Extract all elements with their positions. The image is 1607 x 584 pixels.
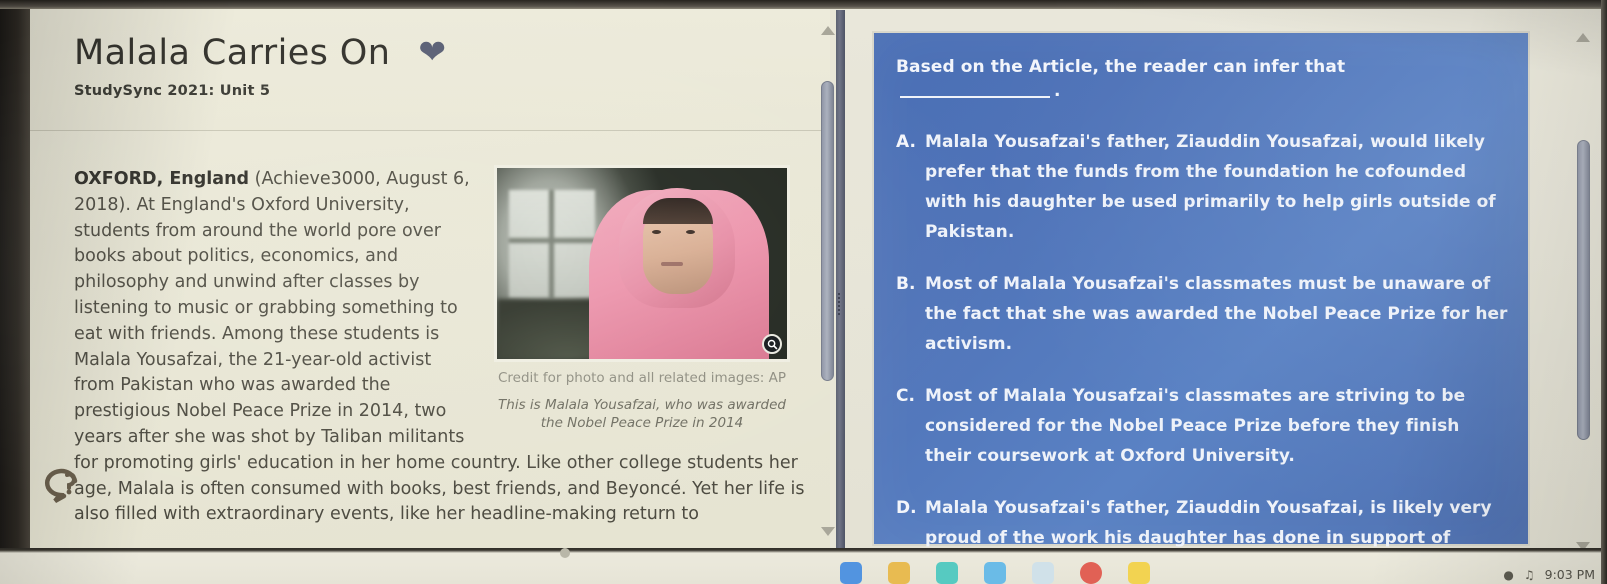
photo-subject-eye-right xyxy=(686,230,695,234)
choice-letter-c: C. xyxy=(896,381,916,411)
taskbar-app-red-icon[interactable] xyxy=(1080,562,1102,584)
photo-subject-mouth xyxy=(661,262,683,266)
question-scroll-thumb[interactable] xyxy=(1577,140,1590,440)
monitor-bezel-left xyxy=(0,0,30,548)
taskbar-status-dot-icon xyxy=(560,548,570,558)
taskbar-browser-icon[interactable] xyxy=(840,562,862,584)
answer-choice-b[interactable]: B. Most of Malala Yousafzai's classmates… xyxy=(896,269,1508,359)
choice-letter-b: B. xyxy=(896,269,916,299)
choice-text-c: Most of Malala Yousafzai's classmates ar… xyxy=(925,381,1508,471)
taskbar-app-teal-icon[interactable] xyxy=(936,562,958,584)
answer-choice-a[interactable]: A. Malala Yousafzai's father, Ziauddin Y… xyxy=(896,127,1508,247)
article-scrollbar[interactable] xyxy=(820,26,835,536)
magnifier-icon[interactable] xyxy=(762,334,782,354)
page-title: Malala Carries On ❤ xyxy=(74,33,830,73)
monitor-photo-screen: Malala Carries On ❤ StudySync 2021: Unit… xyxy=(0,0,1607,584)
question-prompt: Based on the Article, the reader can inf… xyxy=(896,55,1508,103)
taskbar[interactable]: ● ♫ 9:03 PM xyxy=(0,548,1607,584)
choice-letter-d: D. xyxy=(896,493,916,523)
taskbar-folder-icon[interactable] xyxy=(888,562,910,584)
photo-subject-eye-left xyxy=(652,230,661,234)
scroll-up-arrow-icon[interactable] xyxy=(821,26,835,35)
system-tray: ● ♫ 9:03 PM xyxy=(1503,567,1595,582)
article-photo[interactable] xyxy=(494,165,790,362)
scroll-down-arrow-icon[interactable] xyxy=(821,527,835,536)
article-title-text: Malala Carries On xyxy=(74,33,390,73)
choice-text-a: Malala Yousafzai's father, Ziauddin Yous… xyxy=(925,127,1508,247)
article-dateline: OXFORD, England xyxy=(74,169,249,189)
question-blank xyxy=(900,84,1050,98)
question-scrollbar[interactable] xyxy=(1575,33,1591,551)
article-subtitle: StudySync 2021: Unit 5 xyxy=(74,83,830,99)
monitor-bezel-top xyxy=(0,0,1607,9)
taskbar-app-blue-icon[interactable] xyxy=(984,562,1006,584)
article-header: Malala Carries On ❤ StudySync 2021: Unit… xyxy=(14,9,830,131)
article-scroll-track[interactable] xyxy=(821,41,834,521)
photo-credit: Credit for photo and all related images:… xyxy=(494,370,790,387)
help-question-bubble-icon[interactable] xyxy=(42,462,86,506)
question-scroll-track[interactable] xyxy=(1577,48,1590,536)
splitter-grip xyxy=(837,292,844,316)
taskbar-app-icons xyxy=(840,564,1150,584)
help-bubble-glyph xyxy=(42,462,86,506)
question-prompt-period: . xyxy=(1054,81,1061,101)
answer-choices: A. Malala Yousafzai's father, Ziauddin Y… xyxy=(896,127,1508,583)
tray-network-icon[interactable]: ● xyxy=(1503,568,1513,582)
magnifier-glyph xyxy=(767,339,778,350)
question-pane: Based on the Article, the reader can inf… xyxy=(845,9,1601,548)
choice-letter-a: A. xyxy=(896,127,916,157)
answer-choice-c[interactable]: C. Most of Malala Yousafzai's classmates… xyxy=(896,381,1508,471)
tray-volume-icon[interactable]: ♫ xyxy=(1524,568,1535,582)
photo-caption: This is Malala Yousafzai, who was awarde… xyxy=(494,397,790,432)
heart-icon[interactable]: ❤ xyxy=(418,35,446,68)
article-pane: Malala Carries On ❤ StudySync 2021: Unit… xyxy=(14,9,830,548)
photo-building-window xyxy=(509,190,595,298)
article-scroll-thumb[interactable] xyxy=(821,81,834,381)
article-body: Credit for photo and all related images:… xyxy=(14,131,830,528)
scroll-up-arrow-icon[interactable] xyxy=(1576,33,1590,42)
choice-text-b: Most of Malala Yousafzai's classmates mu… xyxy=(925,269,1508,359)
pane-splitter[interactable] xyxy=(836,10,845,548)
clock[interactable]: 9:03 PM xyxy=(1545,567,1595,582)
monitor-bezel-right xyxy=(1601,0,1607,584)
taskbar-app-pale-icon[interactable] xyxy=(1032,562,1054,584)
article-figure: Credit for photo and all related images:… xyxy=(494,165,790,432)
question-panel: Based on the Article, the reader can inf… xyxy=(872,31,1530,546)
question-prompt-text: Based on the Article, the reader can inf… xyxy=(896,57,1345,77)
taskbar-app-yellow-icon[interactable] xyxy=(1128,562,1150,584)
